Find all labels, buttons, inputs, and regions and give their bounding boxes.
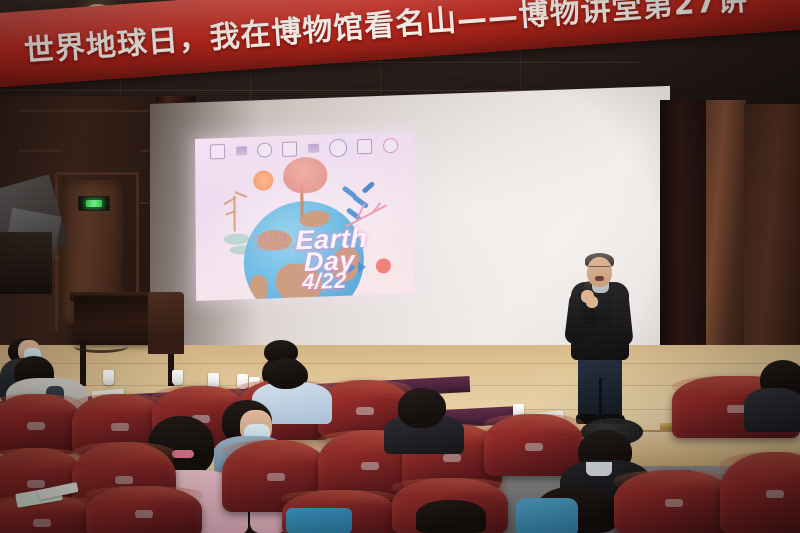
slide-icon xyxy=(210,144,225,160)
slide-icon xyxy=(329,138,347,157)
speaker-head xyxy=(587,257,612,287)
auditorium-photo: 欢度地球 人与自然和谐共生 Earth Day 4/22 xyxy=(0,0,800,533)
slide-icon xyxy=(383,138,398,154)
slide-date: 4/22 xyxy=(302,270,347,294)
slide-icon xyxy=(308,144,319,153)
slide-icon xyxy=(236,146,247,155)
slide-icon xyxy=(357,139,372,155)
slide-icon xyxy=(257,142,272,158)
slide-chevron xyxy=(358,261,366,273)
slide-tree-crown xyxy=(283,156,327,194)
shirt-collar xyxy=(586,462,612,476)
slide-icon xyxy=(282,141,297,157)
paper-cup xyxy=(103,370,114,385)
speaker-hand xyxy=(586,296,598,308)
auditorium-seat[interactable] xyxy=(86,486,202,533)
speaker-mouth xyxy=(595,276,604,281)
stage-chair xyxy=(148,292,184,354)
auditorium-seat[interactable] xyxy=(720,452,800,533)
auditorium-seat[interactable] xyxy=(614,470,734,533)
slide-bare-tree xyxy=(215,185,255,232)
stage-cables xyxy=(74,340,128,353)
auditorium-seat[interactable] xyxy=(0,394,82,454)
paper-cup xyxy=(172,370,183,385)
speaker-glasses xyxy=(589,266,610,272)
projected-slide: 欢度地球 人与自然和谐共生 Earth Day 4/22 xyxy=(195,131,414,301)
exit-sign xyxy=(78,196,110,211)
stage-equipment-box xyxy=(0,232,52,294)
